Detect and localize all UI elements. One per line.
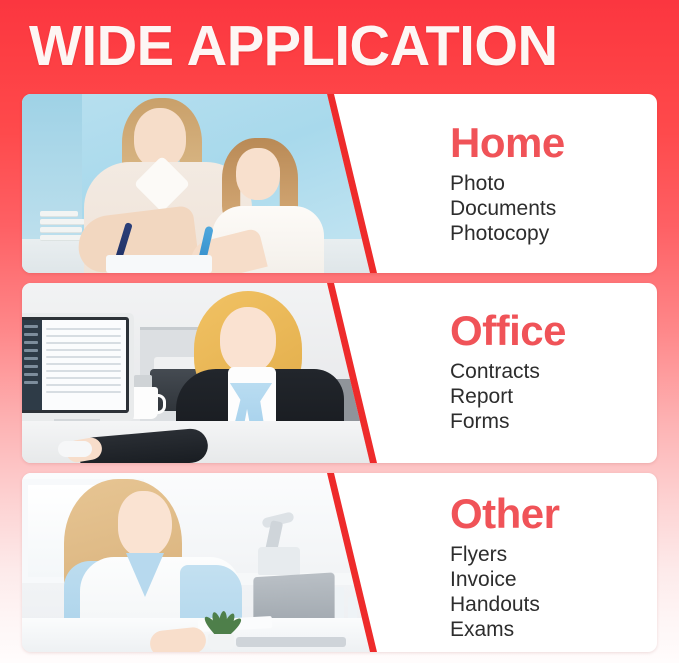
screen-text-rows — [46, 328, 121, 398]
card-text-office: Office Contracts Report Forms — [394, 283, 657, 463]
application-card-office: Office Contracts Report Forms — [22, 283, 657, 463]
application-card-other: Other Flyers Invoice Handouts Exams — [22, 473, 657, 652]
list-item: Invoice — [450, 567, 657, 592]
list-item: Exams — [450, 617, 657, 642]
wide-application-poster: WIDE APPLICATION H — [0, 0, 679, 663]
monitor-screen — [22, 317, 129, 413]
card-text-other: Other Flyers Invoice Handouts Exams — [394, 473, 657, 652]
card-list-other: Flyers Invoice Handouts Exams — [450, 542, 657, 642]
card-heading-home: Home — [450, 120, 657, 166]
laptop-base — [236, 637, 346, 647]
card-list-home: Photo Documents Photocopy — [450, 171, 657, 246]
microscope-base — [258, 547, 300, 575]
lab-worker-head — [118, 491, 172, 557]
card-text-home: Home Photo Documents Photocopy — [394, 94, 657, 273]
list-item: Photocopy — [450, 221, 657, 246]
list-item: Documents — [450, 196, 657, 221]
list-item: Flyers — [450, 542, 657, 567]
computer-mouse — [58, 441, 92, 457]
application-card-home: Home Photo Documents Photocopy — [22, 94, 657, 273]
list-item: Report — [450, 384, 657, 409]
plant-pot — [208, 634, 234, 650]
monitor-frame — [22, 313, 134, 421]
list-item: Forms — [450, 409, 657, 434]
screen-sidebar — [22, 320, 42, 410]
potted-plant — [198, 606, 244, 650]
card-list-office: Contracts Report Forms — [450, 359, 657, 434]
page-title: WIDE APPLICATION — [29, 15, 558, 77]
list-item: Contracts — [450, 359, 657, 384]
child-head — [236, 148, 280, 200]
card-heading-other: Other — [450, 491, 657, 537]
list-item: Handouts — [450, 592, 657, 617]
writing-paper — [106, 255, 212, 273]
worker-head — [220, 307, 276, 373]
card-heading-office: Office — [450, 308, 657, 354]
list-item: Photo — [450, 171, 657, 196]
